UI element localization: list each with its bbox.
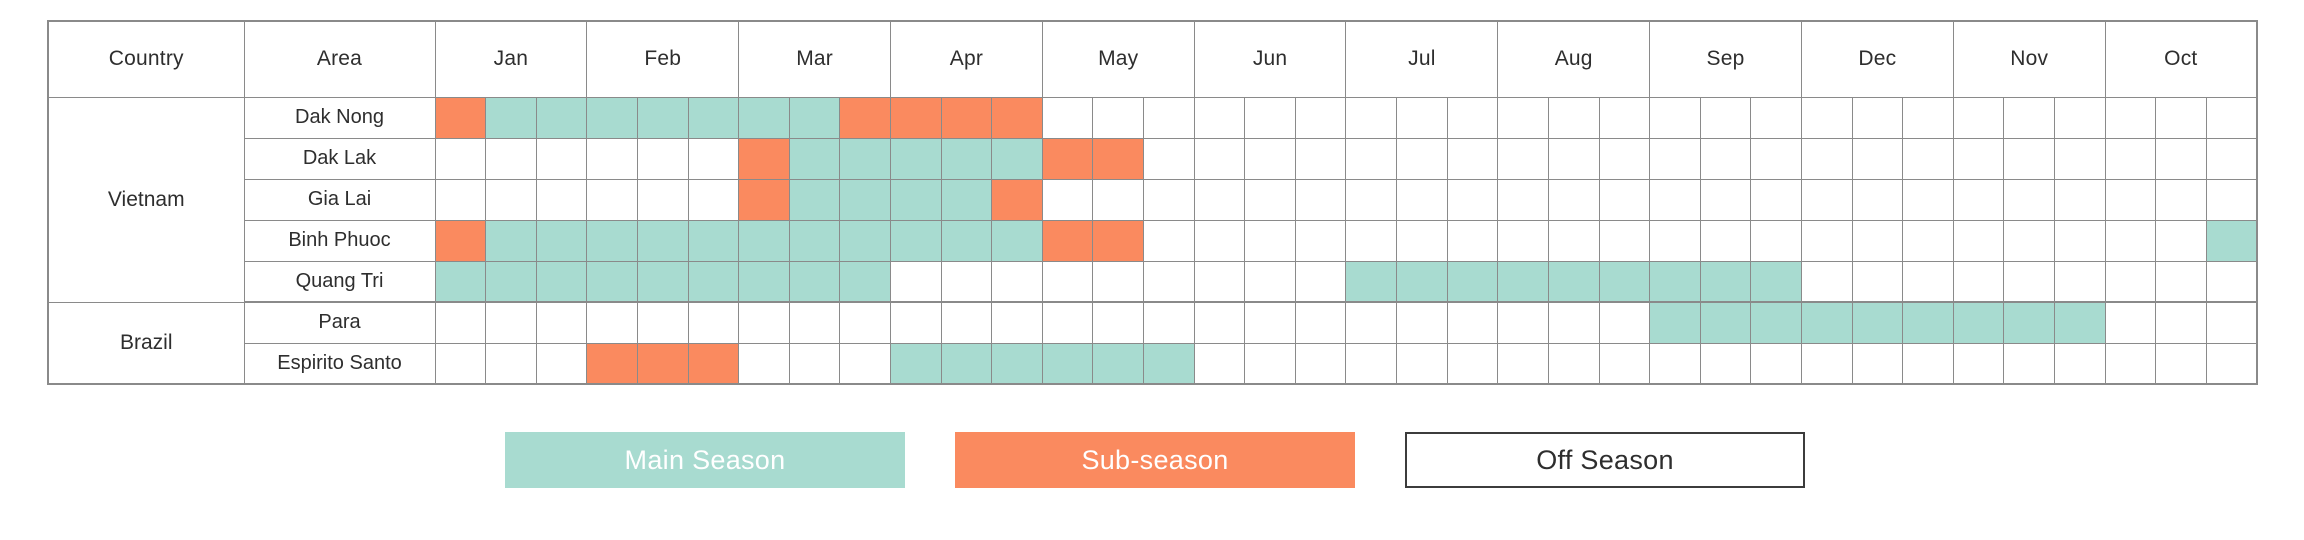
season-cell	[1194, 97, 1245, 138]
season-cell	[1852, 179, 1903, 220]
season-cell	[1447, 220, 1498, 261]
season-cell	[890, 302, 941, 343]
season-cell	[1093, 343, 1144, 384]
table-row: Gia Lai	[48, 179, 2257, 220]
season-cell	[1548, 179, 1599, 220]
season-cell	[2156, 179, 2207, 220]
area-cell-espirito-santo: Espirito Santo	[244, 343, 435, 384]
season-cell	[1599, 343, 1650, 384]
season-cell	[1650, 343, 1701, 384]
season-cell	[1194, 343, 1245, 384]
season-cell	[1599, 97, 1650, 138]
season-cell	[2055, 138, 2106, 179]
season-cell	[1498, 261, 1549, 302]
season-cell	[2156, 97, 2207, 138]
season-cell	[2206, 97, 2257, 138]
season-cell	[1144, 261, 1195, 302]
season-cell	[1953, 343, 2004, 384]
season-cell	[1397, 97, 1448, 138]
column-header-month-may: May	[1042, 21, 1194, 97]
season-cell	[739, 97, 790, 138]
season-cell	[941, 220, 992, 261]
legend: Main SeasonSub-seasonOff Season	[505, 432, 1805, 488]
season-cell	[2156, 302, 2207, 343]
season-cell	[739, 138, 790, 179]
season-cell	[486, 302, 537, 343]
season-cell	[1700, 138, 1751, 179]
season-cell	[536, 97, 587, 138]
table-row: VietnamDak Nong	[48, 97, 2257, 138]
table-header: Country Area JanFebMarAprMayJunJulAugSep…	[48, 21, 2257, 97]
season-cell	[2055, 302, 2106, 343]
season-cell	[739, 343, 790, 384]
season-cell	[1852, 220, 1903, 261]
season-cell	[2206, 220, 2257, 261]
season-cell	[1498, 97, 1549, 138]
season-cell	[1903, 343, 1954, 384]
season-cell	[1700, 261, 1751, 302]
legend-item-off: Off Season	[1405, 432, 1805, 488]
area-cell-binh-phuoc: Binh Phuoc	[244, 220, 435, 261]
table-body: VietnamDak NongDak LakGia LaiBinh PhuocQ…	[48, 97, 2257, 384]
season-cell	[1447, 343, 1498, 384]
season-cell	[739, 179, 790, 220]
season-cell	[2055, 220, 2106, 261]
season-cell	[992, 343, 1043, 384]
season-cell	[2105, 302, 2156, 343]
season-cell	[1295, 302, 1346, 343]
season-cell	[1852, 302, 1903, 343]
season-cell	[1700, 302, 1751, 343]
seasonality-table-container: Country Area JanFebMarAprMayJunJulAugSep…	[47, 20, 2258, 385]
season-cell	[688, 302, 739, 343]
season-cell	[1144, 138, 1195, 179]
season-cell	[992, 302, 1043, 343]
season-cell	[637, 343, 688, 384]
season-cell	[2105, 179, 2156, 220]
season-cell	[739, 302, 790, 343]
season-cell	[1498, 220, 1549, 261]
season-cell	[688, 220, 739, 261]
area-cell-para: Para	[244, 302, 435, 343]
season-cell	[1093, 220, 1144, 261]
season-cell	[587, 261, 638, 302]
column-header-month-jul: Jul	[1346, 21, 1498, 97]
season-cell	[1042, 97, 1093, 138]
season-cell	[1751, 302, 1802, 343]
season-cell	[587, 138, 638, 179]
season-cell	[2004, 220, 2055, 261]
season-cell	[1801, 343, 1852, 384]
season-cell	[637, 138, 688, 179]
season-cell	[992, 138, 1043, 179]
season-cell	[1903, 179, 1954, 220]
season-cell	[2004, 179, 2055, 220]
season-cell	[637, 302, 688, 343]
season-cell	[1751, 220, 1802, 261]
season-cell	[1801, 138, 1852, 179]
season-cell	[1599, 302, 1650, 343]
season-cell	[1144, 97, 1195, 138]
season-cell	[1144, 179, 1195, 220]
table-row: Dak Lak	[48, 138, 2257, 179]
column-header-month-feb: Feb	[587, 21, 739, 97]
column-header-month-apr: Apr	[890, 21, 1042, 97]
column-header-month-sep: Sep	[1650, 21, 1802, 97]
season-cell	[1447, 179, 1498, 220]
season-cell	[1042, 343, 1093, 384]
season-cell	[1295, 138, 1346, 179]
season-cell	[1700, 343, 1751, 384]
season-cell	[1801, 302, 1852, 343]
season-cell	[1245, 138, 1296, 179]
season-cell	[1852, 261, 1903, 302]
season-cell	[1397, 138, 1448, 179]
area-cell-dak-nong: Dak Nong	[244, 97, 435, 138]
season-cell	[536, 261, 587, 302]
season-cell	[789, 138, 840, 179]
season-cell	[1903, 261, 1954, 302]
season-cell	[536, 179, 587, 220]
season-cell	[1852, 343, 1903, 384]
season-cell	[1295, 97, 1346, 138]
season-cell	[1144, 220, 1195, 261]
season-cell	[435, 343, 486, 384]
season-cell	[1650, 220, 1701, 261]
country-cell-vietnam: Vietnam	[48, 97, 244, 302]
season-cell	[1397, 220, 1448, 261]
season-cell	[1397, 302, 1448, 343]
season-cell	[1194, 220, 1245, 261]
season-cell	[1093, 97, 1144, 138]
column-header-month-nov: Nov	[1953, 21, 2105, 97]
season-cell	[1245, 302, 1296, 343]
season-cell	[992, 261, 1043, 302]
season-cell	[890, 261, 941, 302]
season-cell	[789, 97, 840, 138]
season-cell	[992, 179, 1043, 220]
season-cell	[1346, 261, 1397, 302]
season-cell	[941, 261, 992, 302]
season-cell	[1548, 138, 1599, 179]
season-cell	[2156, 261, 2207, 302]
header-row: Country Area JanFebMarAprMayJunJulAugSep…	[48, 21, 2257, 97]
table-row: Quang Tri	[48, 261, 2257, 302]
season-cell	[1498, 302, 1549, 343]
season-cell	[941, 302, 992, 343]
season-cell	[1650, 179, 1701, 220]
season-cell	[1042, 302, 1093, 343]
season-cell	[1447, 302, 1498, 343]
legend-item-main: Main Season	[505, 432, 905, 488]
season-cell	[2156, 343, 2207, 384]
legend-item-sub: Sub-season	[955, 432, 1355, 488]
season-cell	[789, 261, 840, 302]
season-cell	[1801, 220, 1852, 261]
season-cell	[789, 302, 840, 343]
season-cell	[637, 261, 688, 302]
season-cell	[637, 179, 688, 220]
season-cell	[2105, 138, 2156, 179]
column-header-month-aug: Aug	[1498, 21, 1650, 97]
season-cell	[1751, 261, 1802, 302]
season-cell	[1498, 179, 1549, 220]
season-cell	[1093, 261, 1144, 302]
season-cell	[1751, 343, 1802, 384]
season-cell	[1599, 138, 1650, 179]
season-cell	[2105, 261, 2156, 302]
season-cell	[1346, 138, 1397, 179]
season-cell	[486, 138, 537, 179]
season-cell	[840, 302, 891, 343]
season-cell	[1346, 220, 1397, 261]
season-cell	[486, 97, 537, 138]
season-cell	[1346, 97, 1397, 138]
season-cell	[1700, 97, 1751, 138]
season-cell	[587, 97, 638, 138]
season-cell	[1700, 220, 1751, 261]
season-cell	[435, 302, 486, 343]
country-cell-brazil: Brazil	[48, 302, 244, 384]
season-cell	[1245, 179, 1296, 220]
season-cell	[1498, 343, 1549, 384]
season-cell	[1498, 138, 1549, 179]
season-cell	[688, 179, 739, 220]
season-cell	[1650, 261, 1701, 302]
season-cell	[1295, 220, 1346, 261]
season-cell	[1144, 302, 1195, 343]
season-cell	[1953, 97, 2004, 138]
season-cell	[1548, 220, 1599, 261]
seasonality-table: Country Area JanFebMarAprMayJunJulAugSep…	[47, 20, 2258, 385]
season-cell	[1650, 302, 1701, 343]
season-cell	[739, 261, 790, 302]
season-cell	[486, 220, 537, 261]
season-cell	[941, 343, 992, 384]
season-cell	[992, 220, 1043, 261]
season-cell	[2156, 138, 2207, 179]
season-cell	[840, 220, 891, 261]
season-cell	[1801, 261, 1852, 302]
season-cell	[1852, 97, 1903, 138]
season-cell	[1903, 138, 1954, 179]
area-cell-gia-lai: Gia Lai	[244, 179, 435, 220]
season-cell	[1397, 179, 1448, 220]
season-cell	[536, 302, 587, 343]
season-cell	[2206, 302, 2257, 343]
season-cell	[2004, 261, 2055, 302]
season-cell	[1447, 138, 1498, 179]
season-cell	[2105, 343, 2156, 384]
season-cell	[1548, 343, 1599, 384]
season-cell	[2055, 179, 2106, 220]
season-cell	[1245, 220, 1296, 261]
season-cell	[1548, 302, 1599, 343]
season-cell	[840, 138, 891, 179]
season-cell	[890, 138, 941, 179]
area-cell-dak-lak: Dak Lak	[244, 138, 435, 179]
season-cell	[688, 138, 739, 179]
season-cell	[536, 343, 587, 384]
season-cell	[587, 343, 638, 384]
season-cell	[1346, 343, 1397, 384]
season-cell	[2105, 220, 2156, 261]
season-cell	[688, 343, 739, 384]
season-cell	[739, 220, 790, 261]
season-cell	[890, 220, 941, 261]
table-row: Binh Phuoc	[48, 220, 2257, 261]
season-cell	[2206, 179, 2257, 220]
column-header-month-dec: Dec	[1801, 21, 1953, 97]
season-cell	[1346, 179, 1397, 220]
season-cell	[1245, 261, 1296, 302]
season-cell	[1953, 220, 2004, 261]
season-cell	[1295, 343, 1346, 384]
season-cell	[941, 138, 992, 179]
season-cell	[587, 220, 638, 261]
season-cell	[435, 220, 486, 261]
season-cell	[2206, 343, 2257, 384]
season-cell	[1650, 97, 1701, 138]
season-cell	[1245, 97, 1296, 138]
season-cell	[2206, 138, 2257, 179]
season-cell	[789, 179, 840, 220]
season-cell	[840, 261, 891, 302]
season-cell	[1650, 138, 1701, 179]
season-cell	[435, 138, 486, 179]
season-cell	[1903, 97, 1954, 138]
season-cell	[1295, 179, 1346, 220]
season-cell	[941, 179, 992, 220]
season-cell	[1801, 97, 1852, 138]
season-cell	[1903, 302, 1954, 343]
season-cell	[1447, 261, 1498, 302]
season-cell	[1447, 97, 1498, 138]
season-cell	[435, 97, 486, 138]
column-header-month-mar: Mar	[739, 21, 891, 97]
season-cell	[1093, 138, 1144, 179]
season-cell	[1953, 261, 2004, 302]
season-cell	[1599, 261, 1650, 302]
season-cell	[637, 97, 688, 138]
season-cell	[941, 97, 992, 138]
season-cell	[840, 97, 891, 138]
season-cell	[1042, 220, 1093, 261]
column-header-month-jan: Jan	[435, 21, 587, 97]
season-cell	[435, 179, 486, 220]
season-cell	[1953, 138, 2004, 179]
season-cell	[1397, 261, 1448, 302]
season-cell	[840, 343, 891, 384]
season-cell	[2055, 343, 2106, 384]
season-cell	[1346, 302, 1397, 343]
season-cell	[2055, 97, 2106, 138]
season-cell	[992, 97, 1043, 138]
season-cell	[486, 179, 537, 220]
season-cell	[486, 343, 537, 384]
season-cell	[1144, 343, 1195, 384]
season-cell	[1599, 179, 1650, 220]
seasonality-calendar-page: Country Area JanFebMarAprMayJunJulAugSep…	[0, 0, 2304, 540]
season-cell	[1042, 179, 1093, 220]
season-cell	[890, 343, 941, 384]
season-cell	[486, 261, 537, 302]
table-row: Espirito Santo	[48, 343, 2257, 384]
season-cell	[1903, 220, 1954, 261]
season-cell	[1751, 179, 1802, 220]
season-cell	[1751, 97, 1802, 138]
season-cell	[2105, 97, 2156, 138]
season-cell	[890, 97, 941, 138]
season-cell	[2004, 97, 2055, 138]
season-cell	[1548, 261, 1599, 302]
season-cell	[1194, 302, 1245, 343]
season-cell	[1194, 261, 1245, 302]
season-cell	[1245, 343, 1296, 384]
season-cell	[1548, 97, 1599, 138]
season-cell	[1953, 179, 2004, 220]
season-cell	[1194, 138, 1245, 179]
season-cell	[1397, 343, 1448, 384]
column-header-country: Country	[48, 21, 244, 97]
season-cell	[688, 261, 739, 302]
season-cell	[1751, 138, 1802, 179]
season-cell	[840, 179, 891, 220]
season-cell	[2004, 343, 2055, 384]
season-cell	[1599, 220, 1650, 261]
column-header-month-jun: Jun	[1194, 21, 1346, 97]
season-cell	[2004, 138, 2055, 179]
season-cell	[1194, 179, 1245, 220]
season-cell	[1852, 138, 1903, 179]
season-cell	[2206, 261, 2257, 302]
season-cell	[2156, 220, 2207, 261]
season-cell	[1042, 261, 1093, 302]
column-header-month-oct: Oct	[2105, 21, 2257, 97]
season-cell	[435, 261, 486, 302]
season-cell	[890, 179, 941, 220]
season-cell	[587, 302, 638, 343]
season-cell	[536, 220, 587, 261]
season-cell	[1093, 179, 1144, 220]
season-cell	[637, 220, 688, 261]
season-cell	[2004, 302, 2055, 343]
season-cell	[1700, 179, 1751, 220]
season-cell	[2055, 261, 2106, 302]
season-cell	[789, 343, 840, 384]
season-cell	[587, 179, 638, 220]
season-cell	[1042, 138, 1093, 179]
season-cell	[536, 138, 587, 179]
season-cell	[688, 97, 739, 138]
column-header-area: Area	[244, 21, 435, 97]
season-cell	[789, 220, 840, 261]
season-cell	[1801, 179, 1852, 220]
season-cell	[1093, 302, 1144, 343]
table-row: BrazilPara	[48, 302, 2257, 343]
area-cell-quang-tri: Quang Tri	[244, 261, 435, 302]
season-cell	[1295, 261, 1346, 302]
season-cell	[1953, 302, 2004, 343]
